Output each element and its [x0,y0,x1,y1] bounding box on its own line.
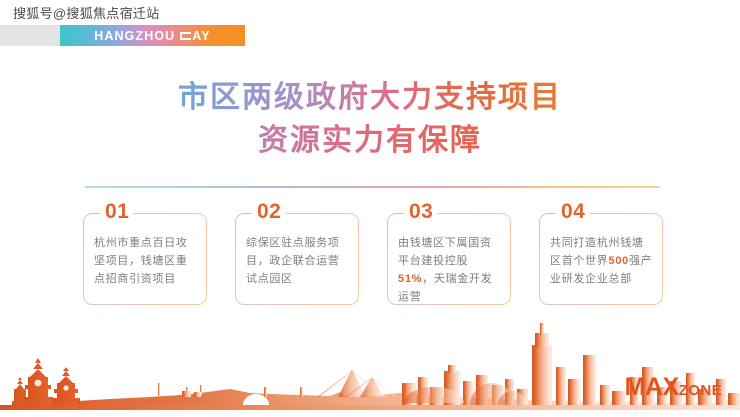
card-text-segment: 杭州市重点百日攻坚项目，钱塘区重点招商引资项目 [94,237,188,285]
gradient-divider [85,186,660,188]
banner-brand-prefix: HANGZHOU [94,29,175,43]
feature-card: 04 共同打造杭州钱塘区首个世界500强产业研发企业总部 [539,213,663,305]
banner-gray-block [0,25,60,46]
card-highlight-value: 500 [609,255,629,267]
card-highlight-value: 51% [398,273,422,285]
card-number-badge: 02 [252,200,286,224]
pagoda-group [12,358,80,405]
feature-card-list: 01 杭州市重点百日攻坚项目，钱塘区重点招商引资项目 02 综保区驻点服务项目，… [83,213,663,305]
card-body-text: 杭州市重点百日攻坚项目，钱塘区重点招商引资项目 [94,234,197,288]
bay-bars-mark-icon [180,31,191,41]
headline-line-2: 资源实力有保障 [0,119,740,162]
card-body-text: 共同打造杭州钱塘区首个世界500强产业研发企业总部 [550,234,653,288]
maxzone-logo: MAX ZONE [625,375,722,400]
watermark-text: 搜狐号@搜狐焦点宿迁站 [13,6,160,22]
card-body-text: 综保区驻点服务项目，政企联合运营试点园区 [246,234,349,288]
feature-card: 02 综保区驻点服务项目，政企联合运营试点园区 [235,213,359,305]
card-text-segment: 综保区驻点服务项目，政企联合运营试点园区 [246,237,340,285]
card-number-badge: 04 [556,200,590,224]
feature-card: 03 由钱塘区下属国资平台建投控股51%，天瑞金开发运营 [387,213,511,305]
logo-max-text: MAX [625,375,679,400]
banner-gradient-block: HANGZHOU AY [60,25,245,46]
logo-zone-text: ZONE [679,383,722,398]
feature-card: 01 杭州市重点百日攻坚项目，钱塘区重点招商引资项目 [83,213,207,305]
brand-banner: HANGZHOU AY [0,25,245,46]
card-number-badge: 03 [404,200,438,224]
card-body-text: 由钱塘区下属国资平台建投控股51%，天瑞金开发运营 [398,234,501,306]
slide-canvas: 搜狐号@搜狐焦点宿迁站 HANGZHOU AY 市区两级政府大力支持项目 资源实… [0,0,740,417]
banner-brand-suffix: AY [192,29,210,43]
headline-block: 市区两级政府大力支持项目 资源实力有保障 [0,76,740,162]
banner-brand-text: HANGZHOU AY [94,29,210,43]
headline-line-1: 市区两级政府大力支持项目 [0,76,740,119]
card-text-segment: 由钱塘区下属国资平台建投控股 [398,237,492,267]
card-number-badge: 01 [100,200,134,224]
